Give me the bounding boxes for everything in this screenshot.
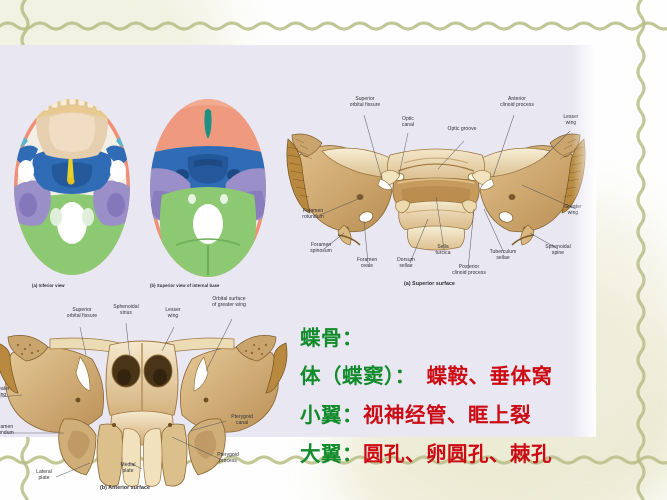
text-greater-wing-head: 大翼： xyxy=(300,442,363,466)
label-optic-groove: Optic groove xyxy=(432,127,492,133)
label-lateral-plate: Lateral plate xyxy=(24,470,64,481)
text-line-diegu: 蝶骨： xyxy=(300,321,363,351)
label-tuberculum-sellae: Tuberculum sellae xyxy=(478,250,528,261)
label-greater-wing: Greater wing xyxy=(554,205,592,216)
content-panel: (a) Inferior view xyxy=(0,45,596,437)
decorative-border-right xyxy=(634,0,648,500)
label-orbital-surface-of-greater-wing: Orbital surface of greater wing xyxy=(193,297,265,308)
label-medial-plate: Medial plate xyxy=(108,463,148,474)
label-anterior-lesser-wing: Lesser wing xyxy=(154,308,192,319)
label-sella-turcica: Sella turcica xyxy=(426,245,460,256)
figure-sphenoid-superior-surface: Superior orbital fissure Optic canal Opt… xyxy=(286,93,586,293)
label-sphenoidal-sinus: Sphenoidal sinus xyxy=(102,305,150,316)
label-foramen-ovale: Foramen ovale xyxy=(346,258,388,269)
label-sphenoidal-spine: Sphenoidal spine xyxy=(534,245,582,256)
figure-sphenoid-anterior-surface: Superior orbital fissure Sphenoidal sinu… xyxy=(0,297,290,493)
text-lesser-wing-head: 小翼： xyxy=(300,403,363,427)
figure-caption-sphenoid-anterior: (b) Anterior surface xyxy=(100,485,150,491)
label-foramen-spinosum: Foramen spinosum xyxy=(296,243,346,254)
label-foramen-rotundum: Foramen rotundum xyxy=(288,209,338,220)
label-superior-orbital-fissure: Superior orbital fissure xyxy=(332,97,398,108)
text-body-terms: 蝶鞍、垂体窝 xyxy=(406,364,553,388)
text-lesser-wing-terms: 视神经管、眶上裂 xyxy=(363,403,531,427)
text-line-lesser-wing: 小翼：视神经管、眶上裂 xyxy=(300,398,531,428)
label-anterior-foramen-rotundum: Foramen rotundum xyxy=(0,425,26,436)
label-optic-canal: Optic canal xyxy=(390,117,426,128)
skull-inferior-illustration xyxy=(8,95,136,281)
label-lesser-wing: Lesser wing xyxy=(552,115,590,126)
sphenoid-superior-illustration xyxy=(286,93,586,293)
figure-skull-superior-internal-base: (b) Superior view of internal base xyxy=(142,95,274,281)
figure-caption-sphenoid-superior: (a) Superior surface xyxy=(404,281,455,287)
label-anterior-clinoid-process: Anterior clinoid process xyxy=(484,97,550,108)
figure-caption-skull-inferior: (a) Inferior view xyxy=(32,283,65,288)
figure-caption-skull-superior: (b) Superior view of internal base xyxy=(150,283,219,288)
text-body-head: 体（蝶窦）： xyxy=(300,364,406,388)
decorative-border-top xyxy=(0,19,667,33)
text-line-body: 体（蝶窦）： 蝶鞍、垂体窝 xyxy=(300,359,553,389)
label-dorsum-sellae: Dorsum sellae xyxy=(386,258,426,269)
chinese-text-block: 蝶骨： 体（蝶窦）： 蝶鞍、垂体窝 小翼：视神经管、眶上裂 大翼：圆孔、卵圆孔、… xyxy=(300,317,596,477)
figure-skull-inferior-view: (a) Inferior view xyxy=(8,95,136,281)
label-pterygoid-canal: Pterygoid canal xyxy=(220,415,264,426)
slide-frame: (a) Inferior view xyxy=(0,0,667,500)
label-posterior-clinoid-process: Posterior clinoid process xyxy=(436,265,502,276)
skull-superior-illustration xyxy=(142,95,274,281)
label-anterior-greater-wing: Greater wing xyxy=(0,387,20,398)
text-diegu-head: 蝶骨： xyxy=(300,326,363,350)
label-pterygoid-process: Pterygoid process xyxy=(204,453,252,464)
text-greater-wing-terms: 圆孔、卵圆孔、棘孔 xyxy=(363,442,552,466)
text-line-greater-wing: 大翼：圆孔、卵圆孔、棘孔 xyxy=(300,437,552,467)
